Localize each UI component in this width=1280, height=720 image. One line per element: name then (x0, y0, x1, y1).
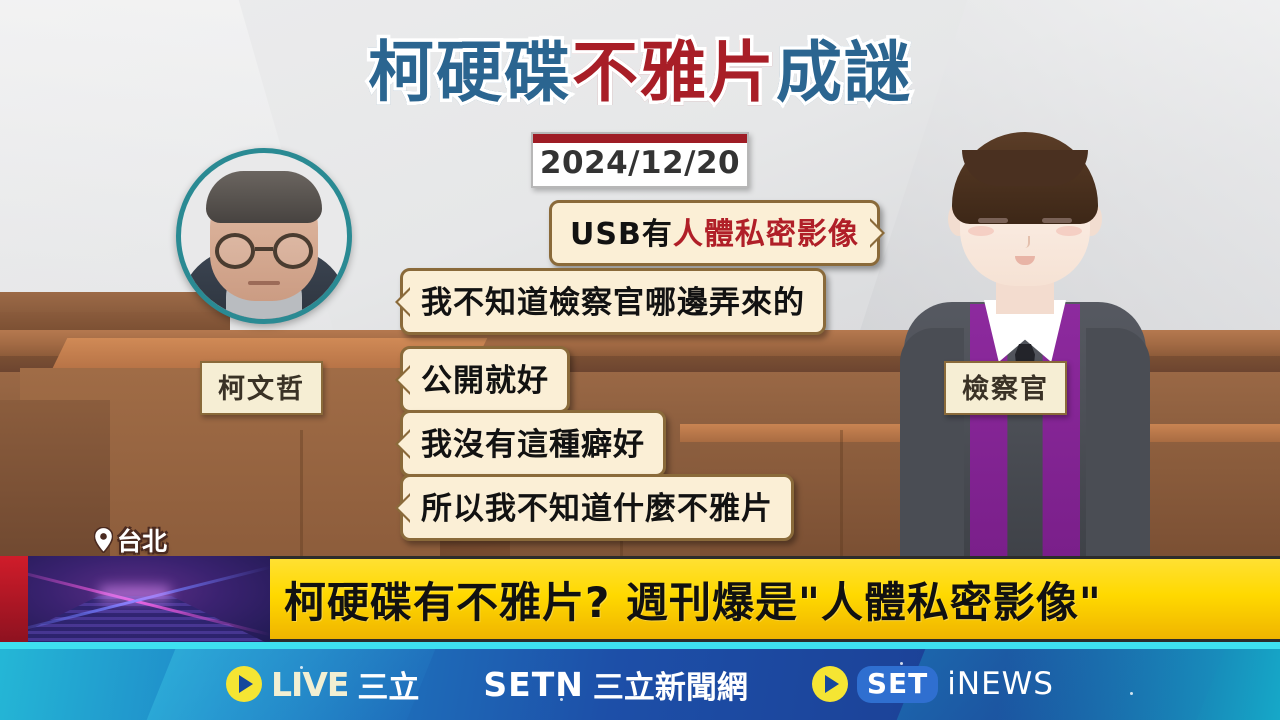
speech-bubble-quote-2: 公開就好 (400, 346, 570, 413)
prosecutor-blush-left (968, 226, 994, 236)
glasses-icon-right (273, 233, 313, 269)
logo-setn-chinese: 三立新聞網 (593, 662, 748, 707)
avatar (176, 148, 352, 324)
speech-bubble-quote-1: 我不知道檢察官哪邊弄來的 (400, 268, 826, 335)
logo-live-latin: LIVE (271, 665, 348, 704)
prosecutor-blush-right (1056, 226, 1082, 236)
map-pin-icon (94, 527, 113, 553)
logo-setn-news: SETN 三立新聞網 (483, 662, 747, 707)
prosecutor-hair-fringe (962, 150, 1088, 186)
ticker-text: 柯硬碟有不雅片? 週刊爆是"人體私密影像" (270, 569, 1102, 630)
prosecutor-character (900, 132, 1150, 556)
lower-third: 柯硬碟有不雅片? 週刊爆是"人體私密影像" (0, 556, 1280, 642)
prosecutor-shoulder-right (1086, 328, 1150, 556)
speech-bubble-usb: USB有人體私密影像 (549, 200, 880, 266)
bubble-text-plain: USB有 (570, 217, 673, 252)
glasses-bridge (255, 247, 273, 251)
ticker-bar: 柯硬碟有不雅片? 週刊爆是"人體私密影像" (270, 556, 1280, 642)
portrait-mouth (248, 281, 280, 285)
prosecutor-nose (1020, 236, 1030, 248)
logo-live-setn: LIVE 三立 (226, 662, 419, 707)
headline-title: 柯硬碟不雅片成謎 (0, 40, 1280, 106)
speech-bubble-quote-4: 所以我不知道什麼不雅片 (400, 474, 794, 541)
prosecutor-eye-left (978, 218, 1008, 223)
logo-inews-latin: iNEWS (947, 666, 1054, 702)
play-icon (226, 666, 262, 702)
logo-live-chinese: 三立 (357, 662, 419, 707)
name-label-left: 柯文哲 (200, 361, 323, 415)
bubble-text-highlight: 人體私密影像 (673, 217, 859, 252)
logo-inews: SET iNEWS (812, 666, 1054, 703)
name-label-right: 檢察官 (944, 361, 1067, 415)
lower-third-graphic-panel (0, 556, 270, 642)
wood-seam-1 (300, 430, 303, 556)
date-badge-accent (533, 134, 747, 143)
portrait-hair (206, 171, 322, 223)
play-icon-2 (812, 666, 848, 702)
date-text: 2024/12/20 (533, 143, 747, 186)
location-tag: 台北 (94, 522, 167, 558)
logo-inews-mark: SET (857, 666, 938, 703)
neon-glow (100, 586, 170, 602)
wood-seam-3 (840, 430, 843, 556)
broadcast-screen: 柯硬碟不雅片成謎 2024/12/20 柯文哲 檢察官 USB有人體私密影像 我… (0, 0, 1280, 720)
headline-segment-blue-1: 柯硬碟 (368, 40, 572, 106)
headline-segment-blue-2: 成謎 (776, 40, 912, 106)
brand-bar: LIVE 三立 SETN 三立新聞網 SET iNEWS (0, 642, 1280, 720)
logo-setn-latin: SETN (483, 665, 583, 704)
date-badge: 2024/12/20 (531, 132, 749, 188)
prosecutor-eye-right (1042, 218, 1072, 223)
glasses-icon-left (215, 233, 255, 269)
speech-bubble-quote-3: 我沒有這種癖好 (400, 410, 666, 477)
headline-segment-red: 不雅片 (572, 40, 776, 106)
location-label: 台北 (117, 522, 167, 558)
lower-third-red-edge (0, 556, 28, 642)
neon-floor (5, 596, 265, 642)
